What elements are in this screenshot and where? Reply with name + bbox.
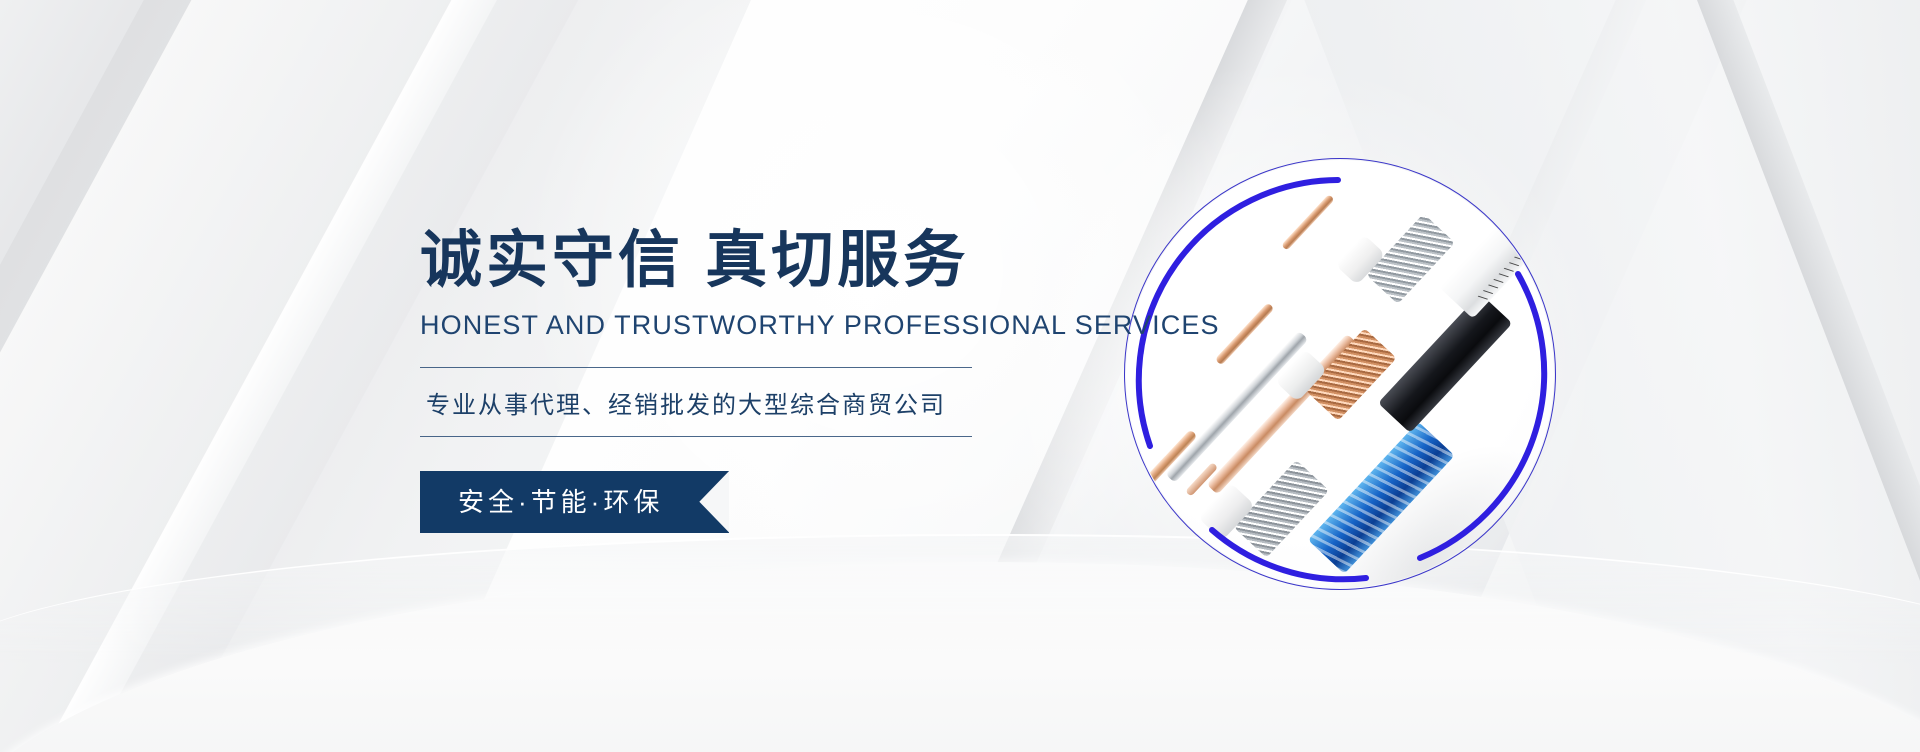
divider-bottom xyxy=(420,436,972,437)
page-subtitle: HONEST AND TRUSTWORTHY PROFESSIONAL SERV… xyxy=(420,310,1120,341)
product-medallion: \\\\\\\\\\ xyxy=(1114,148,1566,600)
page-title: 诚实守信 真切服务 xyxy=(420,228,1120,294)
banner-text-block: 诚实守信 真切服务 HONEST AND TRUSTWORTHY PROFESS… xyxy=(420,228,1120,533)
description-block: 专业从事代理、经销批发的大型综合商贸公司 xyxy=(420,367,972,437)
page-description: 专业从事代理、经销批发的大型综合商贸公司 xyxy=(420,368,972,436)
medallion-accent-arc xyxy=(1114,148,1566,600)
divider-top xyxy=(420,367,972,368)
hero-banner: 诚实守信 真切服务 HONEST AND TRUSTWORTHY PROFESS… xyxy=(0,0,1920,752)
feature-ribbon-tag: 安全·节能·环保 xyxy=(420,471,729,533)
